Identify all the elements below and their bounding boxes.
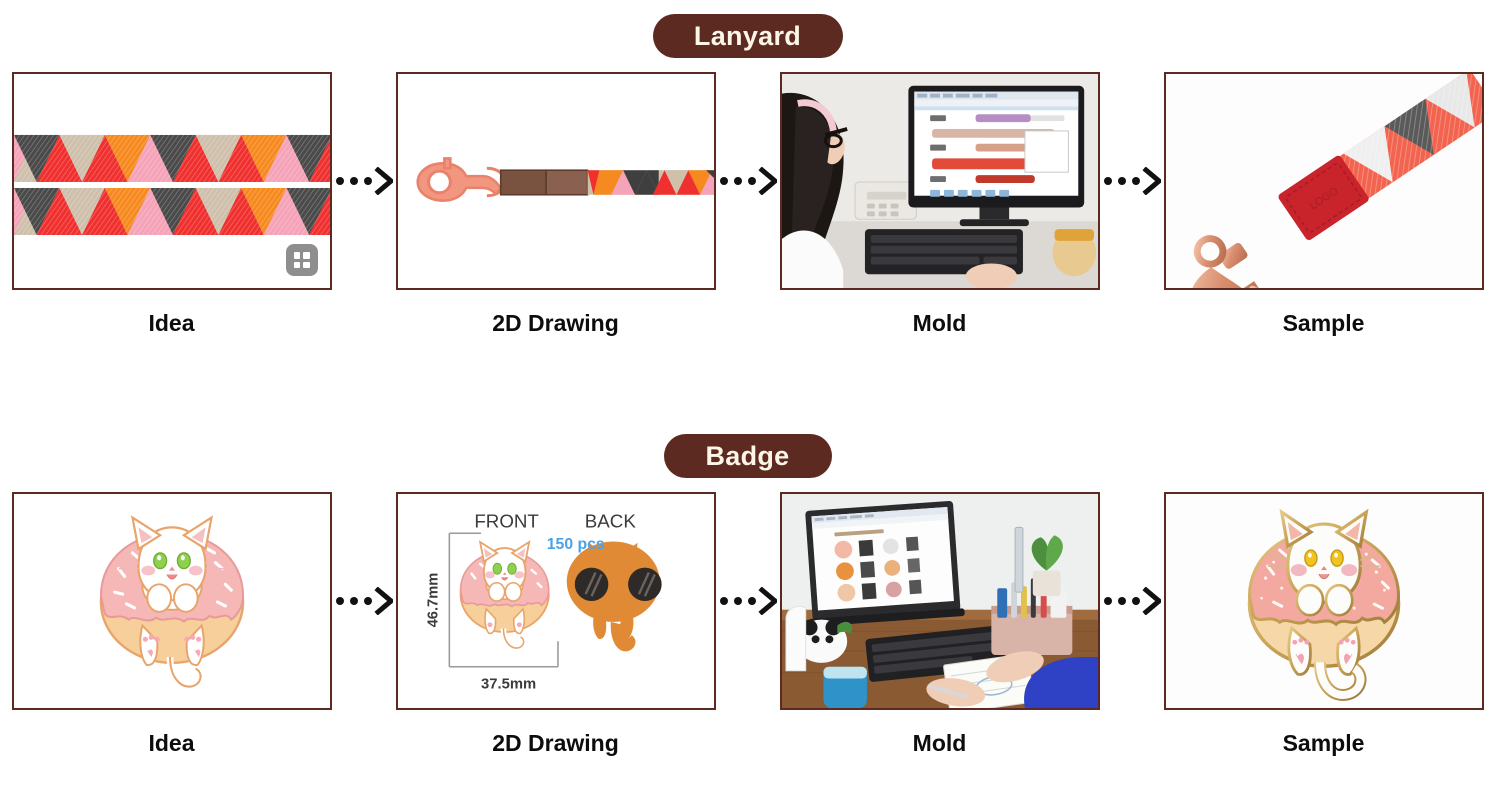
step-caption-lanyard-idea: Idea bbox=[12, 310, 332, 337]
image-cell-badge-idea[interactable] bbox=[12, 492, 332, 710]
image-cell-badge-mold[interactable] bbox=[780, 492, 1100, 710]
badge-idea-artwork bbox=[14, 494, 330, 708]
step-badge-idea[interactable]: Idea bbox=[12, 492, 332, 757]
dotted-arrow-icon bbox=[716, 72, 780, 290]
badge-process-strip: Idea bbox=[0, 492, 1495, 757]
label-width-text: 37.5mm bbox=[481, 676, 536, 692]
label-height-text: 46.7mm bbox=[425, 573, 441, 628]
step-caption-badge-drawing: 2D Drawing bbox=[396, 730, 716, 757]
image-cell-lanyard-mold[interactable] bbox=[780, 72, 1100, 290]
lanyard-title-row: Lanyard bbox=[0, 0, 1495, 72]
image-cell-lanyard-drawing[interactable] bbox=[396, 72, 716, 290]
label-front-text: FRONT bbox=[474, 510, 539, 531]
section-badge: Badge bbox=[0, 420, 1495, 757]
step-badge-sample[interactable]: Sample bbox=[1164, 492, 1484, 757]
image-cell-badge-sample[interactable] bbox=[1164, 492, 1484, 710]
dotted-arrow-icon bbox=[1100, 72, 1164, 290]
image-cell-lanyard-idea[interactable] bbox=[12, 72, 332, 290]
image-cell-lanyard-sample[interactable]: LOGO bbox=[1164, 72, 1484, 290]
dotted-arrow-icon bbox=[1100, 492, 1164, 710]
step-caption-lanyard-mold: Mold bbox=[780, 310, 1100, 337]
step-lanyard-drawing[interactable]: 2D Drawing bbox=[396, 72, 716, 337]
step-badge-drawing[interactable]: FRONT BACK 150 pcs 46.7mm 37.5mm 2D Draw… bbox=[396, 492, 716, 757]
step-caption-badge-idea: Idea bbox=[12, 730, 332, 757]
step-caption-lanyard-sample: Sample bbox=[1164, 310, 1484, 337]
section-lanyard: Lanyard bbox=[0, 0, 1495, 337]
step-caption-badge-mold: Mold bbox=[780, 730, 1100, 757]
badge-mold-photo bbox=[782, 494, 1098, 708]
section-title-text: Lanyard bbox=[694, 23, 801, 50]
badge-sample-photo bbox=[1166, 494, 1482, 708]
process-infographic: Lanyard bbox=[0, 0, 1495, 803]
step-lanyard-sample[interactable]: LOGO Sample bbox=[1164, 72, 1484, 337]
label-back-text: BACK bbox=[584, 510, 636, 531]
step-caption-badge-sample: Sample bbox=[1164, 730, 1484, 757]
badge-title-row: Badge bbox=[0, 420, 1495, 492]
step-caption-lanyard-drawing: 2D Drawing bbox=[396, 310, 716, 337]
label-quantity-text: 150 pcs bbox=[546, 536, 604, 553]
section-title-pill-badge: Badge bbox=[664, 434, 832, 478]
dotted-arrow-icon bbox=[332, 492, 396, 710]
lanyard-idea-artwork bbox=[14, 74, 330, 288]
dotted-arrow-icon bbox=[332, 72, 396, 290]
lanyard-drawing-artwork bbox=[398, 74, 714, 288]
section-title-pill-lanyard: Lanyard bbox=[653, 14, 843, 58]
step-lanyard-mold[interactable]: Mold bbox=[780, 72, 1100, 337]
step-lanyard-idea[interactable]: Idea bbox=[12, 72, 332, 337]
badge-drawing-artwork: FRONT BACK 150 pcs 46.7mm 37.5mm bbox=[398, 494, 714, 708]
section-title-text: Badge bbox=[705, 443, 789, 470]
step-badge-mold[interactable]: Mold bbox=[780, 492, 1100, 757]
lanyard-sample-photo: LOGO bbox=[1166, 74, 1482, 288]
image-cell-badge-drawing[interactable]: FRONT BACK 150 pcs 46.7mm 37.5mm bbox=[396, 492, 716, 710]
grid-icon[interactable] bbox=[286, 244, 318, 276]
lanyard-process-strip: Idea bbox=[0, 72, 1495, 337]
dotted-arrow-icon bbox=[716, 492, 780, 710]
lanyard-mold-photo bbox=[782, 74, 1098, 288]
